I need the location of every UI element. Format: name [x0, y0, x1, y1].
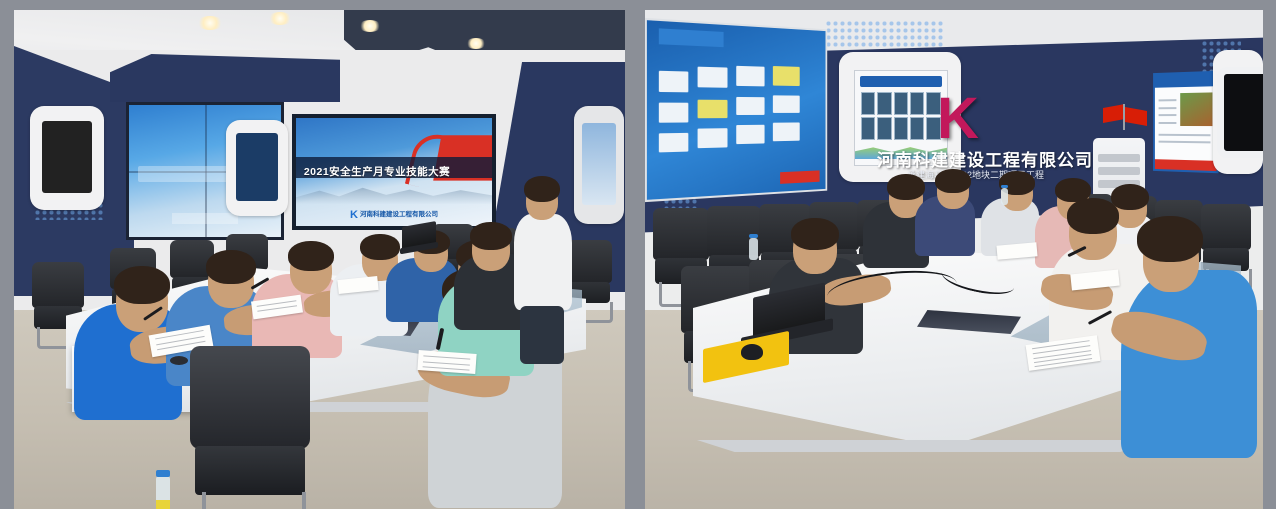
- info-poster[interactable]: [1153, 71, 1218, 173]
- organization-chart-board[interactable]: [645, 18, 827, 202]
- mouse[interactable]: [741, 344, 763, 360]
- logo-k-mark: K: [350, 209, 358, 221]
- photo-right: K 河南科建建设工程有限公司 承建海马公园B2地块二期项目工程: [645, 10, 1263, 509]
- slide-title-text: 2021安全生产月专业技能大赛: [304, 164, 450, 179]
- navy-wall-header: [110, 54, 340, 102]
- photo-left: 2021安全生产月专业技能大赛 K河南科建建设工程有限公司: [14, 10, 625, 509]
- table-edge: [697, 440, 1167, 452]
- standing-supervisor: [510, 176, 574, 364]
- participant: [915, 168, 981, 256]
- exam-paper: [417, 350, 476, 374]
- downlight: [197, 16, 223, 30]
- company-logo-k: K: [937, 90, 979, 148]
- water-bottle: [1001, 188, 1008, 205]
- wall-tv[interactable]: [1217, 67, 1263, 158]
- wall-monitor-panel-left[interactable]: [30, 106, 104, 210]
- presentation-screen[interactable]: 2021安全生产月专业技能大赛 K河南科建建设工程有限公司: [292, 114, 496, 230]
- downlight: [268, 12, 292, 25]
- participant-foreground: [1111, 208, 1257, 458]
- wall-monitor-panel-center[interactable]: [226, 120, 288, 216]
- slide-company-logo: K河南科建建设工程有限公司: [296, 208, 492, 221]
- slide-company-name: 河南科建建设工程有限公司: [360, 211, 438, 218]
- decorative-dot-pattern: [825, 20, 945, 48]
- flag-pole: [1123, 104, 1125, 130]
- downlight: [359, 20, 381, 32]
- downlight: [466, 38, 486, 49]
- photo-collage: 2021安全生产月专业技能大赛 K河南科建建设工程有限公司: [0, 0, 1276, 509]
- water-bottle: [749, 238, 758, 260]
- side-video-wall-logo: [172, 213, 239, 224]
- slide-mountain-graphic: [296, 181, 492, 205]
- water-bottle: [156, 476, 170, 509]
- foreground-chair[interactable]: [190, 346, 310, 509]
- tv-frame: [1213, 50, 1263, 174]
- car-keys: [170, 356, 188, 365]
- wall-panel-right: [574, 106, 624, 224]
